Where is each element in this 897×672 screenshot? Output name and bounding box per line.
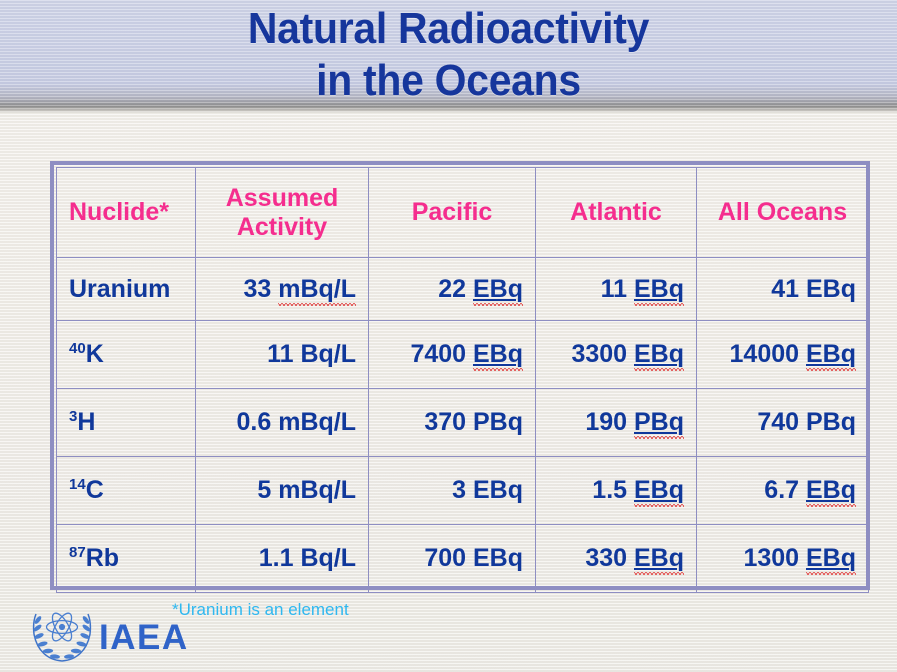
cell-pacific: 700 EBq [369, 525, 536, 593]
unit-token: PBq [634, 408, 684, 436]
cell-all-oceans: 14000 EBq [697, 321, 869, 389]
cell-assumed-activity: 0.6 mBq/L [196, 389, 369, 457]
cell-assumed-activity: 11 Bq/L [196, 321, 369, 389]
page-title: Natural Radioactivity in the Oceans [31, 3, 865, 107]
unit-token: EBq [634, 340, 684, 368]
cell-all-oceans: 1300 EBq [697, 525, 869, 593]
table-body: Uranium33 mBq/L22 EBq11 EBq41 EBq40K11 B… [57, 258, 869, 593]
table-header: Nuclide* Assumed Activity Pacific Atlant… [57, 168, 869, 258]
cell-atlantic: 330 EBq [536, 525, 697, 593]
slide-canvas: Natural Radioactivity in the Oceans Nucl… [0, 0, 897, 672]
cell-assumed-activity: 1.1 Bq/L [196, 525, 369, 593]
radioactivity-table: Nuclide* Assumed Activity Pacific Atlant… [56, 167, 869, 593]
cell-nuclide: 3H [57, 389, 196, 457]
unit-token: EBq [473, 275, 523, 303]
unit-token: EBq [634, 476, 684, 504]
iaea-atom-laurel-emblem [27, 601, 97, 667]
column-header-assumed-activity: Assumed Activity [196, 168, 369, 258]
cell-assumed-activity: 5 mBq/L [196, 457, 369, 525]
table-row: Uranium33 mBq/L22 EBq11 EBq41 EBq [57, 258, 869, 321]
unit-token: EBq [806, 476, 856, 504]
cell-atlantic: 3300 EBq [536, 321, 697, 389]
iaea-logo: IAEA [27, 600, 207, 668]
cell-all-oceans: 740 PBq [697, 389, 869, 457]
iaea-wordmark: IAEA [99, 620, 189, 655]
column-header-nuclide: Nuclide* [57, 168, 196, 258]
title-banner: Natural Radioactivity in the Oceans [0, 0, 897, 113]
cell-assumed-activity: 33 mBq/L [196, 258, 369, 321]
nuclide-mass-number: 87 [69, 544, 86, 561]
unit-token: mBq/L [278, 275, 356, 303]
column-header-all-oceans: All Oceans [697, 168, 869, 258]
table-row: 14C5 mBq/L3 EBq1.5 EBq6.7 EBq [57, 457, 869, 525]
unit-token: EBq [634, 544, 684, 572]
cell-atlantic: 1.5 EBq [536, 457, 697, 525]
table-row: 3H0.6 mBq/L370 PBq190 PBq740 PBq [57, 389, 869, 457]
radioactivity-table-frame: Nuclide* Assumed Activity Pacific Atlant… [50, 161, 870, 590]
cell-pacific: 7400 EBq [369, 321, 536, 389]
nuclide-mass-number: 14 [69, 476, 86, 493]
cell-pacific: 22 EBq [369, 258, 536, 321]
unit-token: EBq [806, 544, 856, 572]
cell-nuclide: 14C [57, 457, 196, 525]
table-row: 87Rb1.1 Bq/L700 EBq330 EBq1300 EBq [57, 525, 869, 593]
cell-all-oceans: 41 EBq [697, 258, 869, 321]
table-row: 40K11 Bq/L7400 EBq3300 EBq14000 EBq [57, 321, 869, 389]
cell-pacific: 370 PBq [369, 389, 536, 457]
nuclide-mass-number: 3 [69, 408, 77, 425]
unit-token: EBq [806, 340, 856, 368]
unit-token: EBq [473, 340, 523, 368]
cell-all-oceans: 6.7 EBq [697, 457, 869, 525]
table-header-row: Nuclide* Assumed Activity Pacific Atlant… [57, 168, 869, 258]
cell-nuclide: Uranium [57, 258, 196, 321]
unit-token: EBq [634, 275, 684, 303]
cell-atlantic: 11 EBq [536, 258, 697, 321]
column-header-pacific: Pacific [369, 168, 536, 258]
column-header-atlantic: Atlantic [536, 168, 697, 258]
cell-nuclide: 40K [57, 321, 196, 389]
cell-nuclide: 87Rb [57, 525, 196, 593]
cell-pacific: 3 EBq [369, 457, 536, 525]
nuclide-mass-number: 40 [69, 340, 86, 357]
cell-atlantic: 190 PBq [536, 389, 697, 457]
